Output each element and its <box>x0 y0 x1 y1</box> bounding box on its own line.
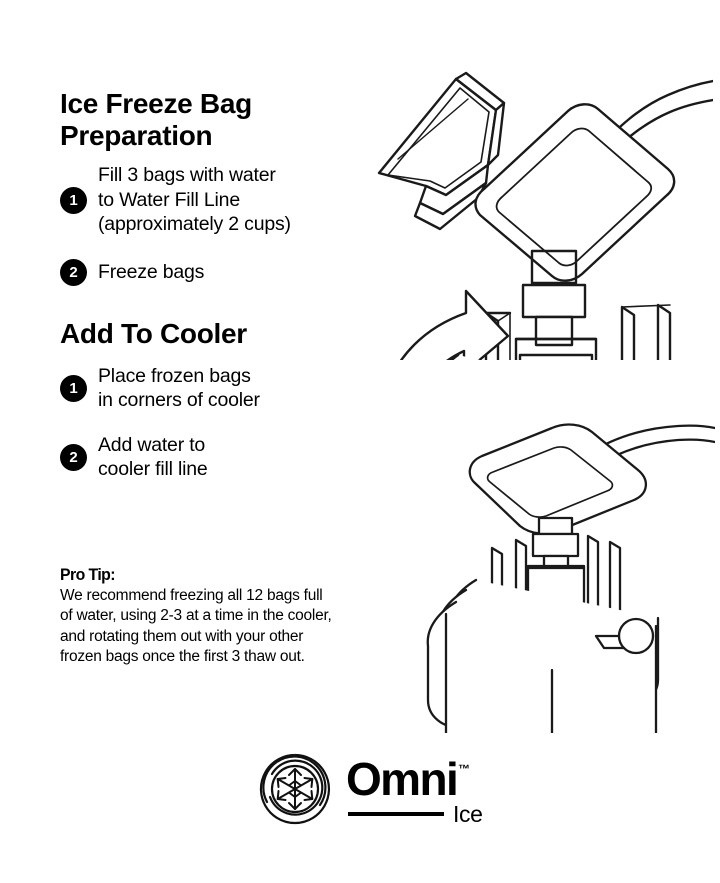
step-number-badge: 2 <box>60 259 87 286</box>
logo-rule <box>348 812 444 816</box>
trademark-icon: ™ <box>458 762 470 776</box>
illustration-cooler-ready <box>420 418 715 733</box>
step-text: Add water to cooler fill line <box>98 433 208 482</box>
step-text: Fill 3 bags with water to Water Fill Lin… <box>98 163 291 237</box>
step-item: 2 Freeze bags <box>60 259 390 286</box>
steps-list-add-to-cooler: 1 Place frozen bags in corners of cooler… <box>60 364 390 482</box>
section-heading-preparation: Ice Freeze Bag Preparation <box>60 88 390 151</box>
logo-subline: Ice <box>348 803 482 826</box>
pro-tip-block: Pro Tip: We recommend freezing all 12 ba… <box>60 565 408 667</box>
step-number-badge: 1 <box>60 187 87 214</box>
step-item: 1 Fill 3 bags with water to Water Fill L… <box>60 163 390 237</box>
instructions-column: Ice Freeze Bag Preparation 1 Fill 3 bags… <box>60 88 390 482</box>
step-number-badge: 2 <box>60 444 87 471</box>
cooler-body-icon <box>428 580 658 733</box>
illustration-cooler-with-bag <box>368 55 713 360</box>
logo-word: Omni <box>346 758 457 802</box>
step-item: 1 Place frozen bags in corners of cooler <box>60 364 390 413</box>
logo-sub-word: Ice <box>453 803 482 826</box>
pro-tip-body: We recommend freezing all 12 bags full o… <box>60 586 408 667</box>
steps-list-preparation: 1 Fill 3 bags with water to Water Fill L… <box>60 163 390 286</box>
step-text: Freeze bags <box>98 260 204 285</box>
pro-tip-title: Pro Tip: <box>60 565 384 585</box>
pour-arrow-icon <box>382 291 508 360</box>
snowflake-in-rings-icon <box>258 752 332 831</box>
instruction-card: Ice Freeze Bag Preparation 1 Fill 3 bags… <box>0 0 720 883</box>
brand-logo: Omni™ Ice <box>258 745 498 837</box>
step-number-badge: 1 <box>60 375 87 402</box>
step-text: Place frozen bags in corners of cooler <box>98 364 260 413</box>
logo-wordmark: Omni™ Ice <box>346 756 482 826</box>
step-item: 2 Add water to cooler fill line <box>60 433 390 482</box>
section-heading-add-to-cooler: Add To Cooler <box>60 318 390 350</box>
